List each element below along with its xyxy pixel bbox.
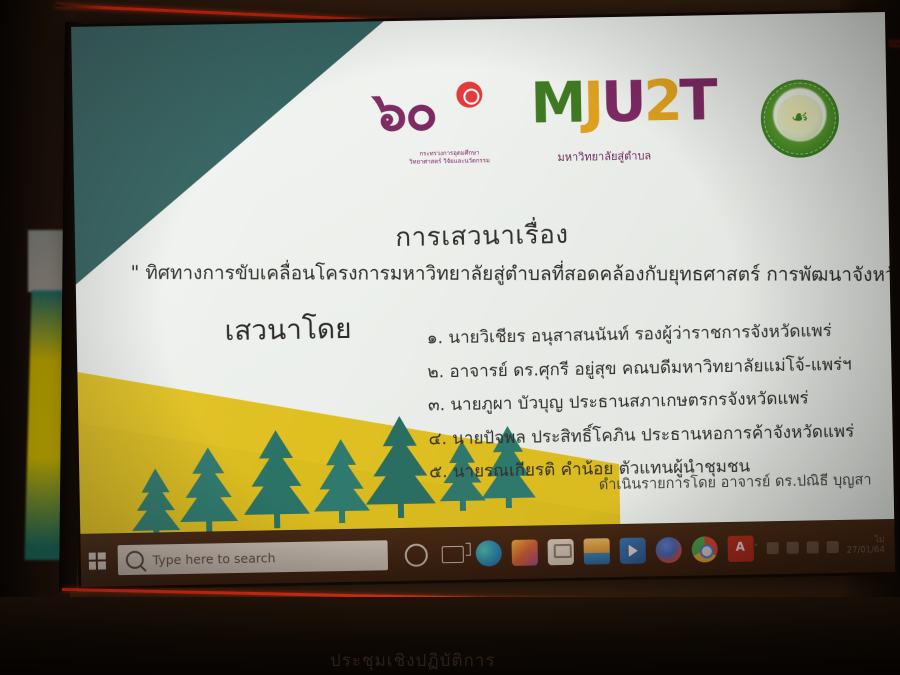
- cortana-icon[interactable]: [403, 541, 429, 567]
- mju-letter-j: J: [583, 70, 602, 135]
- onedrive-icon[interactable]: [766, 542, 778, 554]
- list-item: ๓. นายภูผา บัวบุญ ประธานสภาเกษตรกรจังหวั…: [428, 383, 895, 419]
- university-seal-icon: ☙: [760, 79, 839, 158]
- logo-60-numeral: ๖๐: [372, 79, 436, 143]
- task-view-icon[interactable]: [439, 541, 465, 567]
- ministry-60-logo: ๖๐ กระทรวงการอุดมศึกษา วิทยาศาสตร์ วิจัย…: [372, 83, 524, 182]
- panel-label: เสวนาโดย: [224, 307, 352, 353]
- chrome-icon[interactable]: [691, 536, 717, 562]
- acrobat-icon[interactable]: [727, 536, 753, 562]
- list-item: ๔. นายปัจพล ประสิทธิ์โคภิน ประธานหอการค้…: [428, 416, 894, 452]
- system-tray: ˄ ไม่ 27/01/64: [753, 536, 895, 558]
- search-placeholder: Type here to search: [152, 550, 275, 567]
- wall-below-screen: ประชุมเชิงปฏิบัติการ: [0, 597, 900, 675]
- mju-letter-2: 2: [643, 69, 680, 135]
- ministry-caption-line2: วิทยาศาสตร์ วิจัยและนวัตกรรม: [376, 157, 524, 168]
- photos-icon[interactable]: [511, 539, 537, 565]
- projection-screen: ๖๐ กระทรวงการอุดมศึกษา วิทยาศาสตร์ วิจัย…: [68, 9, 898, 590]
- panelist-list: ๑. นายวิเชียร อนุสาสนนันท์ รองผู้ว่าราชก…: [387, 316, 895, 493]
- volume-icon[interactable]: [806, 541, 818, 553]
- store-icon[interactable]: [547, 539, 573, 565]
- mju-letter-m: M: [530, 71, 584, 137]
- powerpoint-icon[interactable]: [619, 538, 645, 564]
- slide-subtitle: " ทิศทางการขับเคลื่อนโครงการมหาวิทยาลัยส…: [131, 258, 861, 290]
- mju-logo: MJU2T มหาวิทยาลัยสู่ตำบล: [530, 73, 742, 177]
- search-icon: [125, 551, 143, 569]
- list-item: ๑. นายวิเชียร อนุสาสนนันท์ รองผู้ว่าราชก…: [427, 316, 895, 352]
- mju-subtitle: มหาวิทยาลัยสู่ตำบล: [557, 146, 651, 166]
- start-button[interactable]: [80, 534, 114, 587]
- taskbar-icons: [403, 536, 753, 568]
- slide-logos: ๖๐ กระทรวงการอุดมศึกษา วิทยาศาสตร์ วิจัย…: [372, 71, 844, 190]
- windows-logo-icon: [89, 552, 106, 569]
- language-icon[interactable]: [826, 541, 838, 553]
- file-explorer-icon[interactable]: [583, 538, 609, 564]
- network-icon[interactable]: [786, 542, 798, 554]
- meet-icon[interactable]: [655, 537, 681, 563]
- mju-letter-t: T: [679, 68, 715, 134]
- search-input[interactable]: Type here to search: [117, 540, 388, 575]
- wall-faint-text: ประชุมเชิงปฏิบัติการ: [330, 647, 890, 673]
- mju-letter-u: U: [601, 69, 645, 135]
- slide-footer-note: ดำเนินรายการโดย อาจารย์ ดร.ปณิธี บุญสา: [599, 468, 872, 496]
- clock[interactable]: ไม่ 27/01/64: [846, 536, 885, 556]
- list-item: ๒. อาจารย์ ดร.ศุกรี อยู่สุข คณบดีมหาวิทย…: [427, 349, 894, 385]
- chevron-up-icon[interactable]: ˄: [753, 543, 758, 554]
- presentation-slide: ๖๐ กระทรวงการอุดมศึกษา วิทยาศาสตร์ วิจัย…: [71, 12, 894, 541]
- clock-date: 27/01/64: [847, 546, 885, 556]
- edge-icon[interactable]: [475, 540, 501, 566]
